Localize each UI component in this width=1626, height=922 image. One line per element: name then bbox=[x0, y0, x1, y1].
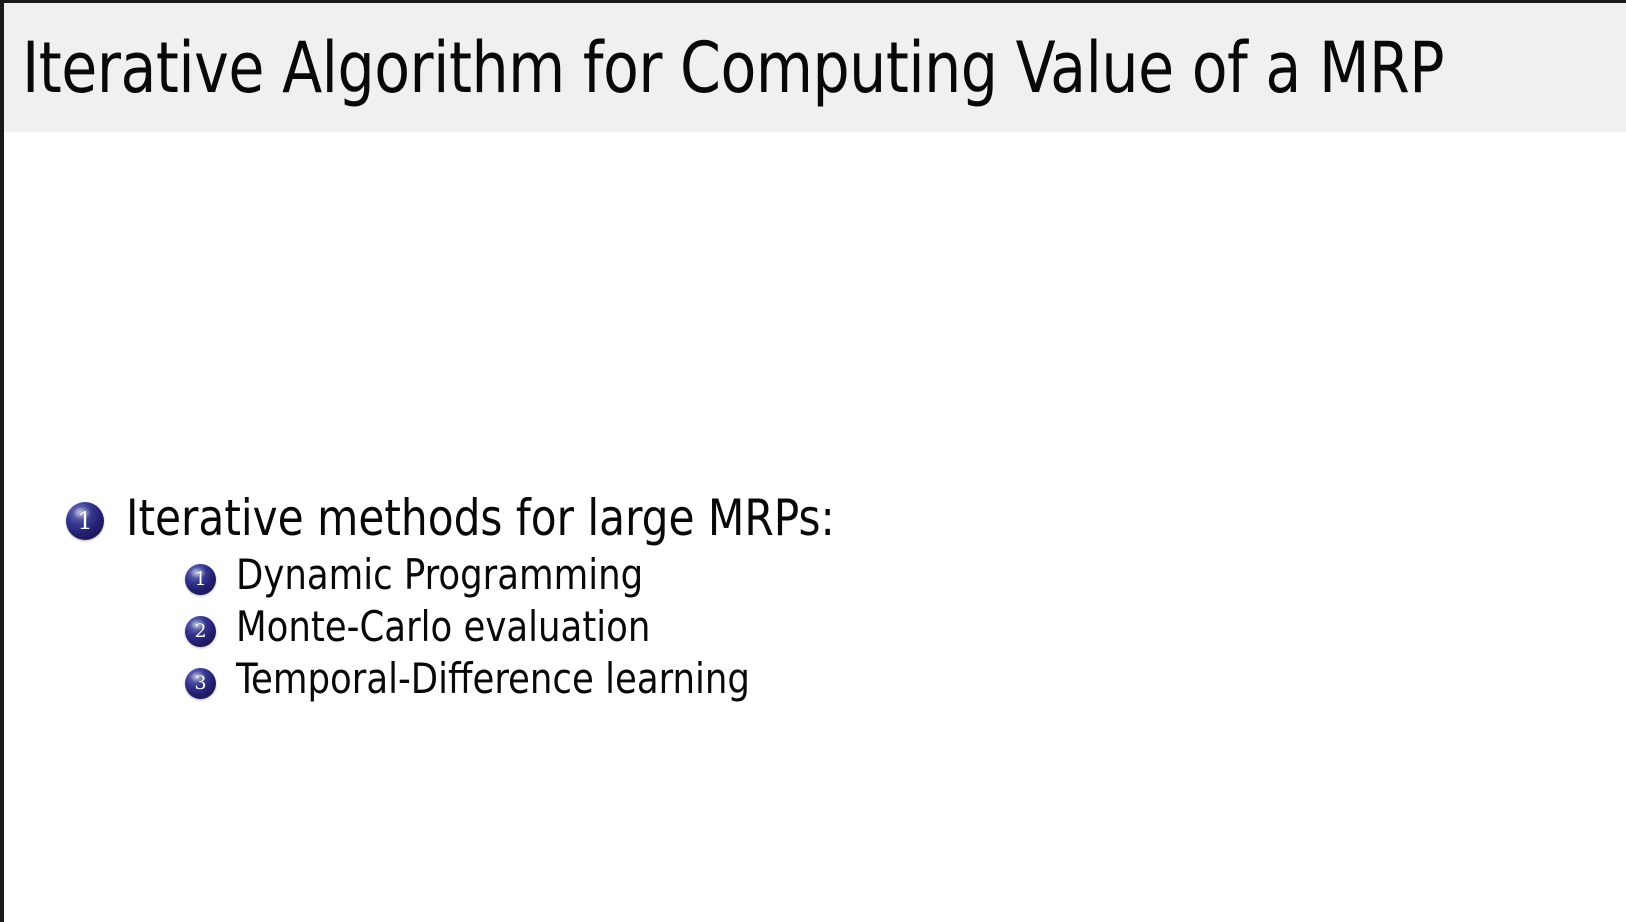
slide-title: Iterative Algorithm for Computing Value … bbox=[22, 33, 1444, 103]
presentation-slide: Iterative Algorithm for Computing Value … bbox=[0, 0, 1626, 922]
list-item-label: Dynamic Programming bbox=[236, 554, 643, 596]
numbered-ball-icon: 1 bbox=[185, 564, 216, 595]
numbered-ball-icon: 3 bbox=[185, 668, 216, 699]
list-item: 1 Iterative methods for large MRPs: bbox=[66, 497, 1466, 543]
bullet-number: 1 bbox=[194, 570, 206, 589]
list-item: 2 Monte-Carlo evaluation bbox=[185, 611, 1466, 648]
list-item: 3 Temporal-Difference learning bbox=[185, 663, 1466, 700]
slide-body: 1 Iterative methods for large MRPs: 1 Dy… bbox=[4, 132, 1626, 922]
list-item: 1 Dynamic Programming bbox=[185, 559, 1466, 596]
slide-title-bar: Iterative Algorithm for Computing Value … bbox=[4, 3, 1626, 132]
bullet-number: 1 bbox=[77, 509, 92, 533]
outline-list: 1 Iterative methods for large MRPs: 1 Dy… bbox=[66, 497, 1466, 715]
list-item-label: Iterative methods for large MRPs: bbox=[126, 493, 835, 543]
numbered-ball-icon: 1 bbox=[66, 502, 104, 540]
list-item-label: Monte-Carlo evaluation bbox=[236, 606, 650, 648]
numbered-ball-icon: 2 bbox=[185, 616, 216, 647]
bullet-number: 2 bbox=[194, 622, 206, 641]
bullet-number: 3 bbox=[194, 674, 206, 693]
sub-outline-list: 1 Dynamic Programming 2 Monte-Carlo eval… bbox=[185, 559, 1466, 700]
list-item-label: Temporal-Difference learning bbox=[236, 658, 750, 700]
